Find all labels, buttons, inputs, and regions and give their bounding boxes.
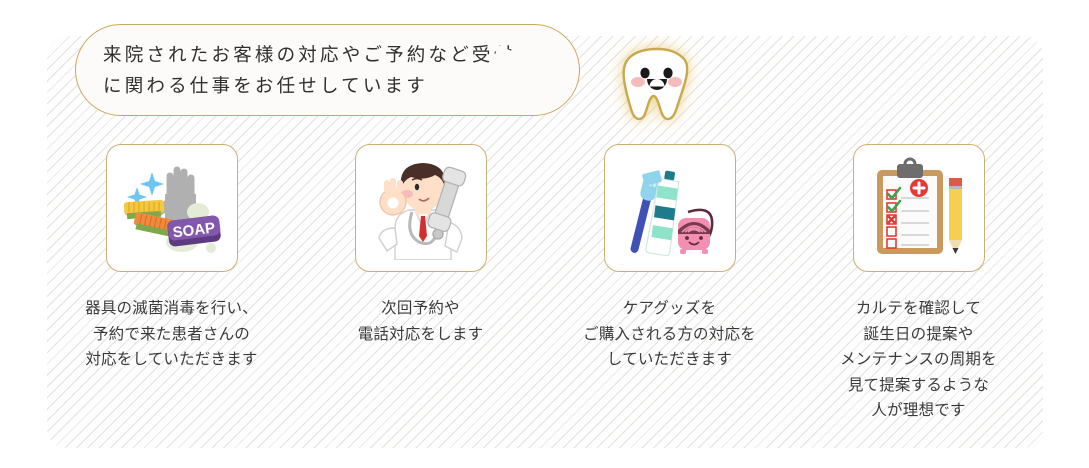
coat-left-arm	[379, 228, 397, 251]
card-column-care-goods: ケアグッズを ご購入される方の対応を していただきます	[545, 144, 794, 424]
floss-eye-right	[699, 236, 703, 240]
clipboard-clip	[897, 164, 923, 178]
yellow-pencil	[949, 178, 962, 254]
card-column-reservation: 次回予約や 電話対応をします	[296, 144, 545, 424]
floss-eye-left	[685, 236, 689, 240]
card-caption-care-goods: ケアグッズを ご購入される方の対応を していただきます	[583, 296, 756, 373]
card-column-chart-review: カルテを確認して 誕生日の提案や メンテナンスの周期を 見て提案するような 人が…	[794, 144, 1043, 424]
tooth-cheek-left	[631, 77, 645, 87]
card-caption-chart-review: カルテを確認して 誕生日の提案や メンテナンスの周期を 見て提案するような 人が…	[840, 296, 997, 424]
dental-floss-dispenser	[678, 210, 712, 254]
glove-brush-soap-icon: SOAP	[116, 156, 228, 260]
tooth-cheek-right	[668, 77, 682, 87]
ok-hand-gesture	[380, 181, 406, 215]
tooth-eye-left	[640, 68, 649, 79]
staff-on-phone-icon	[365, 156, 477, 260]
tooth-eye-right	[663, 68, 672, 79]
card-reservation[interactable]	[355, 144, 487, 272]
clipboard-checklist-pencil-icon	[863, 156, 975, 260]
card-chart-review[interactable]	[853, 144, 985, 272]
card-care-goods[interactable]	[604, 144, 736, 272]
card-column-sterilization: SOAP 器具の滅菌消毒を行い、 予約で来た患者さんの 対応をしていただきます	[47, 144, 296, 424]
cards-row: SOAP 器具の滅菌消毒を行い、 予約で来た患者さんの 対応をしていただきます	[47, 144, 1043, 424]
card-caption-sterilization: 器具の滅菌消毒を行い、 予約で来た患者さんの 対応をしていただきます	[85, 296, 258, 373]
card-sterilization[interactable]: SOAP	[106, 144, 238, 272]
tooth-mascot-icon	[618, 46, 696, 122]
card-caption-reservation: 次回予約や 電話対応をします	[358, 296, 484, 347]
speech-bubble-text: 来院されたお客様の対応やご予約など受付 に関わる仕事をお任せしています	[103, 41, 556, 103]
dental-care-goods-icon	[614, 156, 726, 260]
eye	[414, 184, 418, 190]
